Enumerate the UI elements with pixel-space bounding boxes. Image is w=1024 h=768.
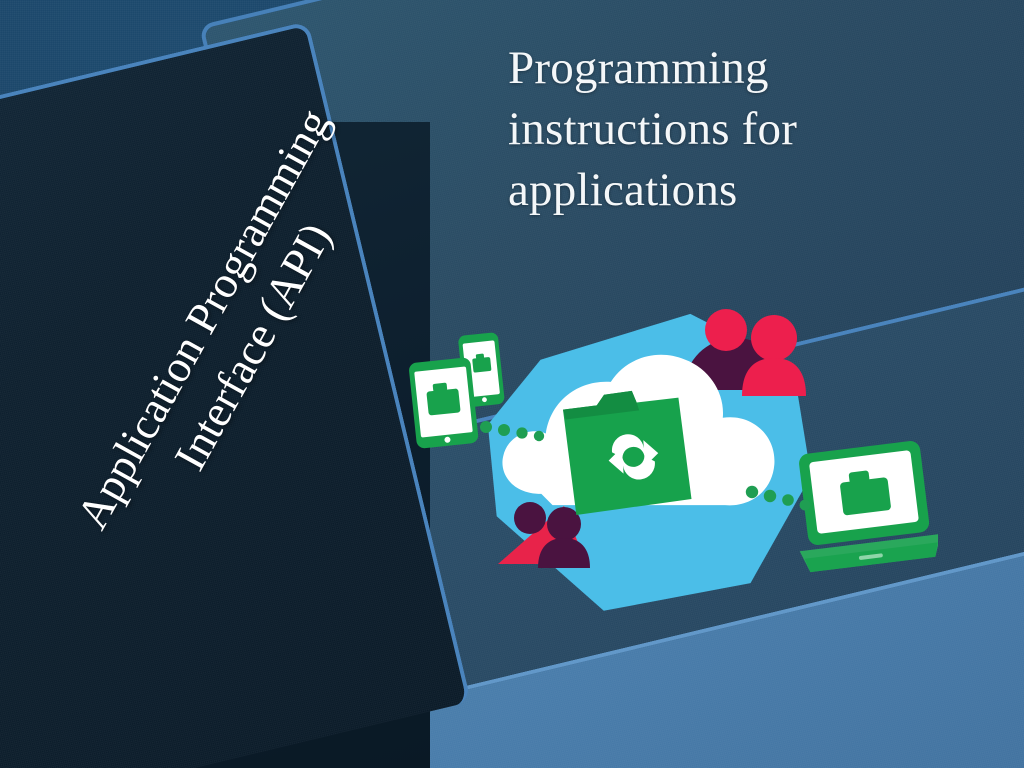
laptop-device-icon bbox=[788, 439, 938, 573]
cloud-sync-illustration bbox=[398, 296, 938, 616]
slide-heading: Programming instructions for application… bbox=[508, 38, 938, 221]
slide-rotated-title: Application Programming Interface (API) bbox=[57, 87, 399, 579]
slide-canvas: Application Programming Interface (API) … bbox=[0, 0, 1024, 768]
rotated-title-area: Application Programming Interface (API) bbox=[24, 126, 414, 556]
